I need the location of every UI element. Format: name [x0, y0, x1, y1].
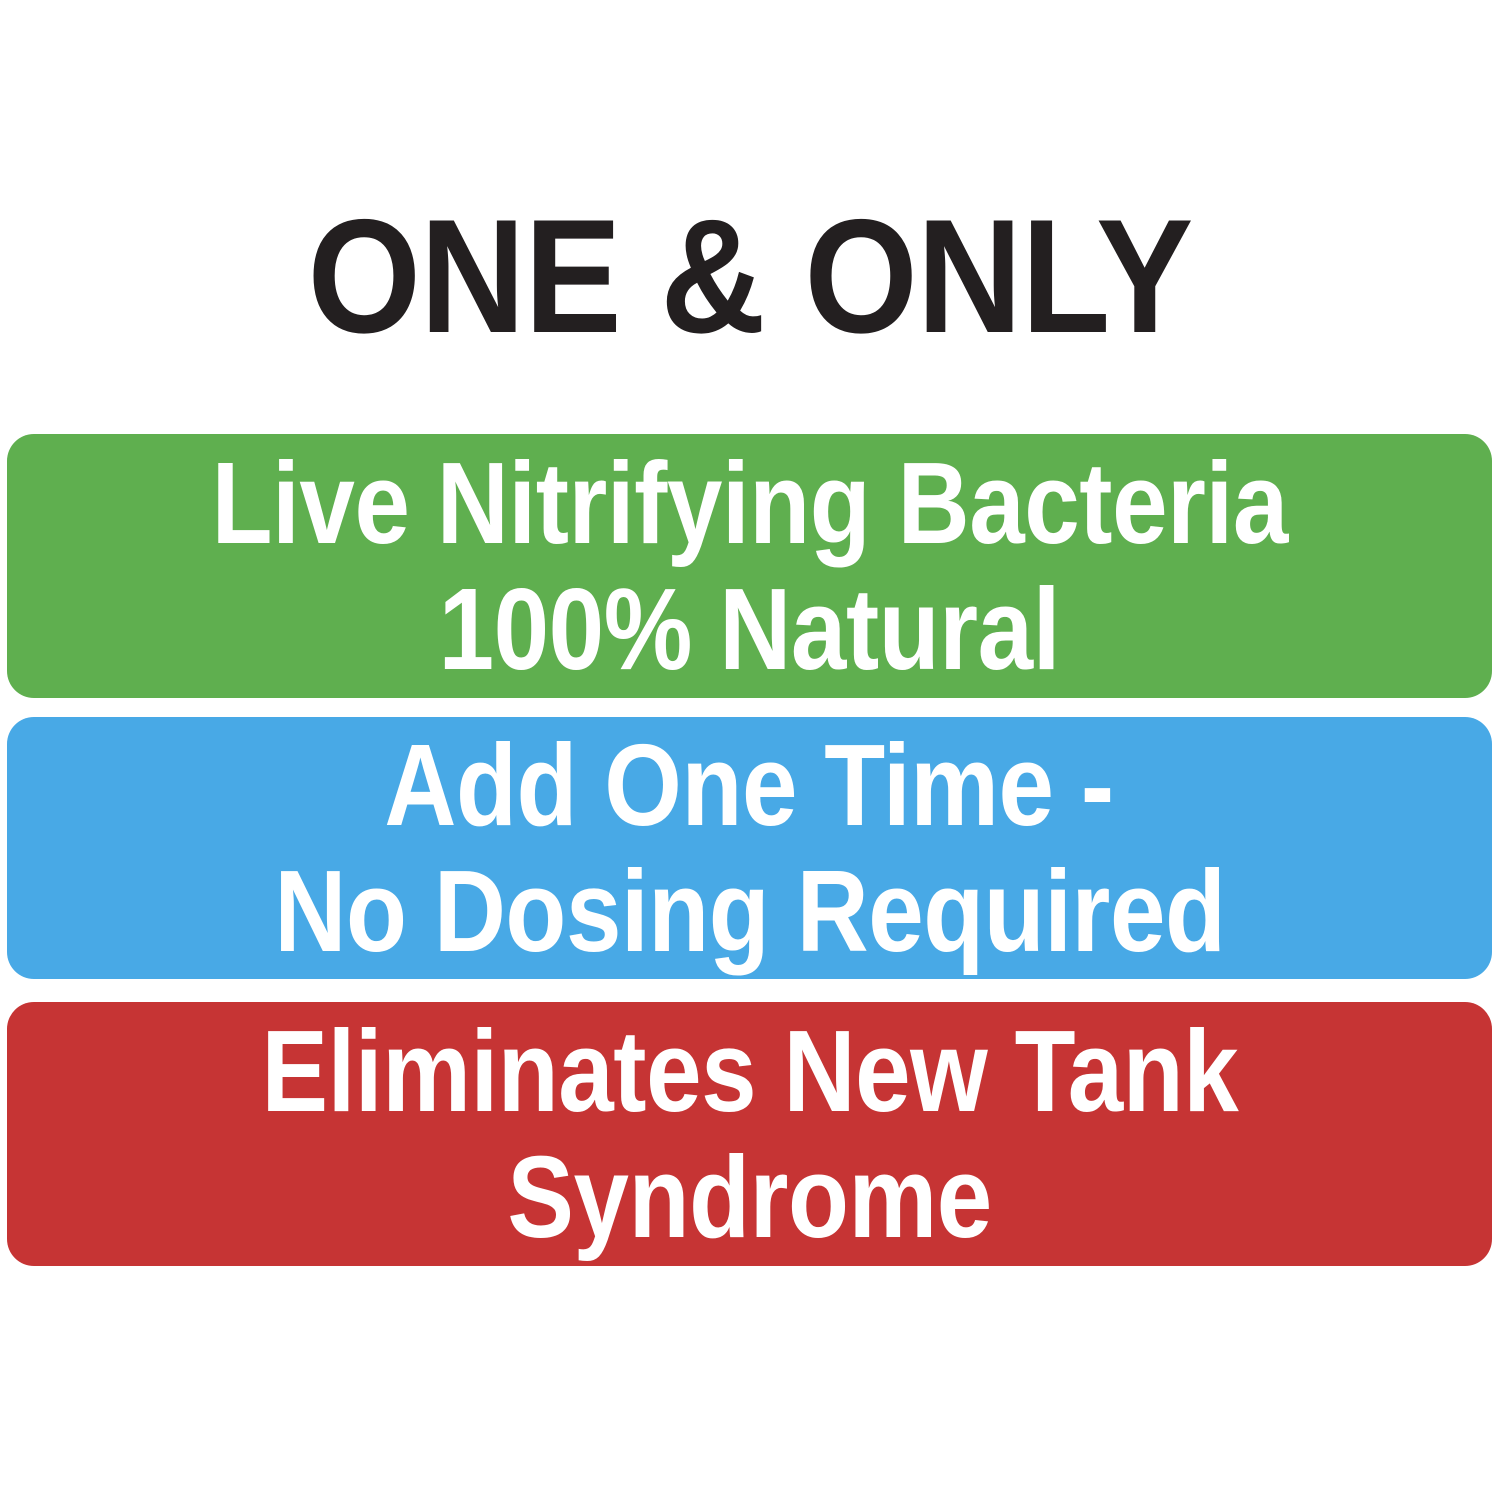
- feature-banner-line-2: 100% Natural: [439, 566, 1060, 692]
- feature-banner-line-1: Add One Time -: [385, 722, 1114, 848]
- feature-banner-line-1: Eliminates New Tank: [261, 1008, 1238, 1134]
- page-title: ONE & ONLY: [75, 196, 1425, 358]
- feature-banner-line-2: No Dosing Required: [274, 848, 1225, 974]
- feature-banner-add-one-time: Add One Time - No Dosing Required: [7, 717, 1492, 979]
- feature-banner-live-nitrifying-bacteria: Live Nitrifying Bacteria 100% Natural: [7, 434, 1492, 698]
- feature-banner-line-2: Syndrome: [507, 1134, 991, 1260]
- feature-banner-line-1: Live Nitrifying Bacteria: [211, 440, 1287, 566]
- product-feature-poster: ONE & ONLY Live Nitrifying Bacteria 100%…: [0, 0, 1500, 1500]
- feature-banner-eliminates-new-tank-syndrome: Eliminates New Tank Syndrome: [7, 1002, 1492, 1266]
